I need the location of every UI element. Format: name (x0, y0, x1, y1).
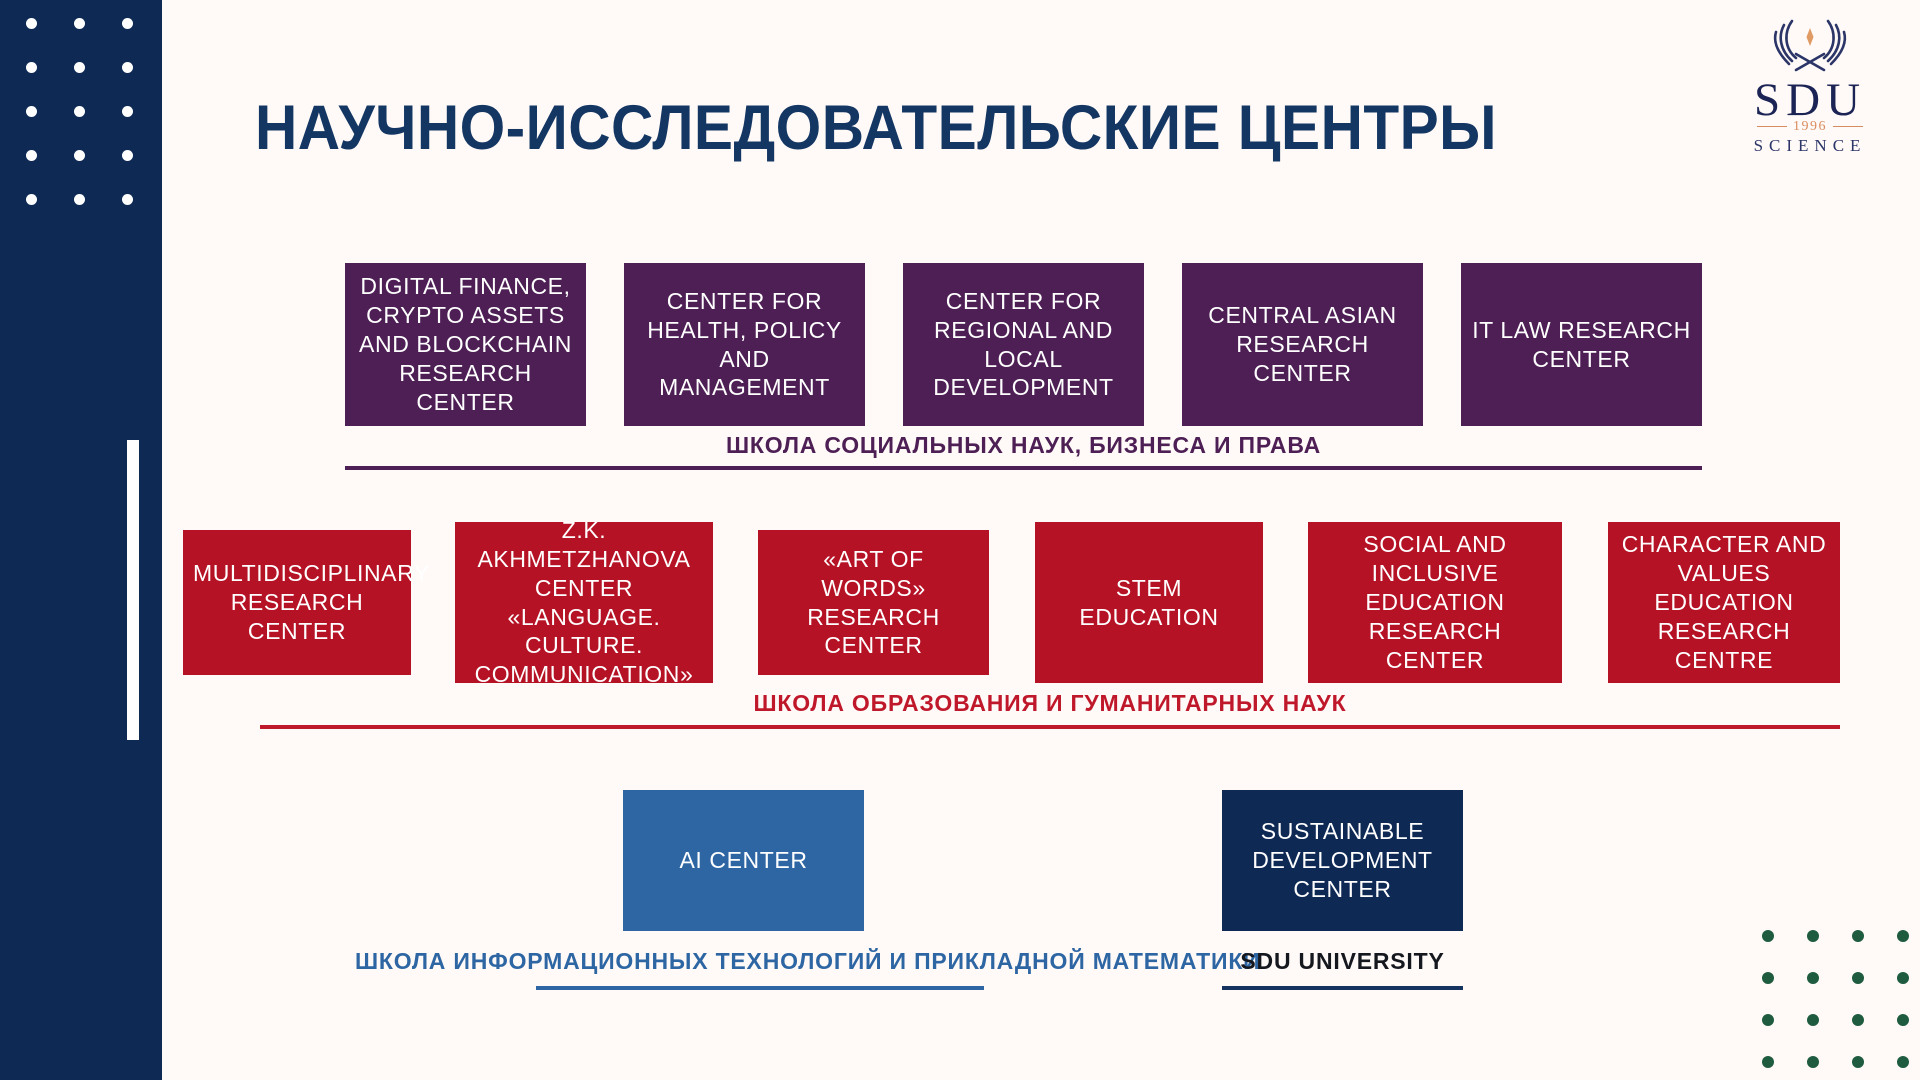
dot (1762, 1014, 1774, 1026)
dot (26, 150, 37, 161)
school-label: ШКОЛА ИНФОРМАЦИОННЫХ ТЕХНОЛОГИЙ И ПРИКЛА… (355, 948, 1166, 975)
center-card[interactable]: CENTER FOR REGIONAL AND LOCAL DEVELOPMEN… (903, 263, 1144, 426)
dot (122, 194, 133, 205)
school-rule (260, 725, 1840, 729)
emblem-diamond-icon (1807, 28, 1814, 46)
center-card-label: MULTIDISCIPLINARY RESEARCH CENTER (193, 559, 401, 646)
center-card[interactable]: IT LAW RESEARCH CENTER (1461, 263, 1702, 426)
center-card-label: SOCIAL AND INCLUSIVE EDUCATION RESEARCH … (1318, 530, 1552, 675)
center-card[interactable]: CHARACTER AND VALUES EDUCATION RESEARCH … (1608, 522, 1840, 683)
center-card-label: CHARACTER AND VALUES EDUCATION RESEARCH … (1618, 530, 1830, 675)
dot (1807, 972, 1819, 984)
dot (74, 150, 85, 161)
center-card[interactable]: DIGITAL FINANCE, CRYPTO ASSETS AND BLOCK… (345, 263, 586, 426)
dot (26, 62, 37, 73)
dot (1807, 930, 1819, 942)
sdu-logo: SDU 1996 SCIENCE (1735, 14, 1885, 174)
logo-rule-right (1833, 126, 1863, 127)
center-card-label: DIGITAL FINANCE, CRYPTO ASSETS AND BLOCK… (355, 272, 576, 417)
page-title: НАУЧНО-ИССЛЕДОВАТЕЛЬСКИЕ ЦЕНТРЫ (255, 92, 1622, 164)
center-card[interactable]: Z.K. AKHMETZHANOVA CENTER «LANGUAGE. CUL… (455, 522, 713, 683)
dot (1897, 1056, 1909, 1068)
sdu-wing-emblem-icon (1762, 14, 1858, 76)
center-card-label: CENTER FOR REGIONAL AND LOCAL DEVELOPMEN… (913, 287, 1134, 403)
dot (122, 18, 133, 29)
dot (26, 18, 37, 29)
dot (1897, 1014, 1909, 1026)
center-card-label: STEM EDUCATION (1045, 574, 1253, 632)
dot (122, 106, 133, 117)
center-card[interactable]: «ART OF WORDS» RESEARCH CENTER (758, 530, 989, 675)
dot (1897, 930, 1909, 942)
school-label: ШКОЛА ОБРАЗОВАНИЯ И ГУМАНИТАРНЫХ НАУК (260, 690, 1840, 717)
dot (1852, 972, 1864, 984)
dot (26, 106, 37, 117)
center-card-label: AI CENTER (633, 846, 854, 875)
center-card[interactable]: MULTIDISCIPLINARY RESEARCH CENTER (183, 530, 411, 675)
dot (122, 150, 133, 161)
dot (1762, 930, 1774, 942)
logo-wordmark: SDU (1735, 78, 1885, 123)
slide-canvas: НАУЧНО-ИССЛЕДОВАТЕЛЬСКИЕ ЦЕНТРЫ SDU 1996… (0, 0, 1920, 1080)
center-card[interactable]: STEM EDUCATION (1035, 522, 1263, 683)
center-card-label: CENTRAL ASIAN RESEARCH CENTER (1192, 301, 1413, 388)
dot (1852, 930, 1864, 942)
center-card-label: CENTER FOR HEALTH, POLICY AND MANAGEMENT (634, 287, 855, 403)
dot (74, 194, 85, 205)
school-rule (536, 986, 984, 990)
left-sidebar-band (0, 0, 162, 1080)
center-card-label: SUSTAINABLE DEVELOPMENT CENTER (1232, 817, 1453, 904)
dot (1897, 972, 1909, 984)
logo-year: 1996 (1793, 119, 1827, 135)
center-card[interactable]: SUSTAINABLE DEVELOPMENT CENTER (1222, 790, 1463, 931)
center-card[interactable]: CENTRAL ASIAN RESEARCH CENTER (1182, 263, 1423, 426)
corner-dot-pattern (1762, 930, 1920, 1080)
dot (122, 62, 133, 73)
center-card-label: Z.K. AKHMETZHANOVA CENTER «LANGUAGE. CUL… (465, 516, 703, 690)
school-label: ШКОЛА СОЦИАЛЬНЫХ НАУК, БИЗНЕСА И ПРАВА (345, 432, 1702, 459)
dot (1762, 1056, 1774, 1068)
center-card-label: IT LAW RESEARCH CENTER (1471, 316, 1692, 374)
center-card[interactable]: CENTER FOR HEALTH, POLICY AND MANAGEMENT (624, 263, 865, 426)
sidebar-accent-bar (127, 440, 139, 740)
dot (1762, 972, 1774, 984)
dot (1852, 1014, 1864, 1026)
school-rule (1222, 986, 1463, 990)
dot (1807, 1056, 1819, 1068)
center-card[interactable]: SOCIAL AND INCLUSIVE EDUCATION RESEARCH … (1308, 522, 1562, 683)
logo-rule-left (1757, 126, 1787, 127)
school-label: SDU UNIVERSITY (1222, 948, 1463, 975)
center-card[interactable]: AI CENTER (623, 790, 864, 931)
logo-tagline: SCIENCE (1735, 136, 1885, 156)
school-rule (345, 466, 1702, 470)
sidebar-dot-pattern (26, 18, 170, 238)
center-card-label: «ART OF WORDS» RESEARCH CENTER (768, 545, 979, 661)
dot (74, 62, 85, 73)
dot (1807, 1014, 1819, 1026)
dot (74, 106, 85, 117)
dot (1852, 1056, 1864, 1068)
dot (26, 194, 37, 205)
dot (74, 18, 85, 29)
